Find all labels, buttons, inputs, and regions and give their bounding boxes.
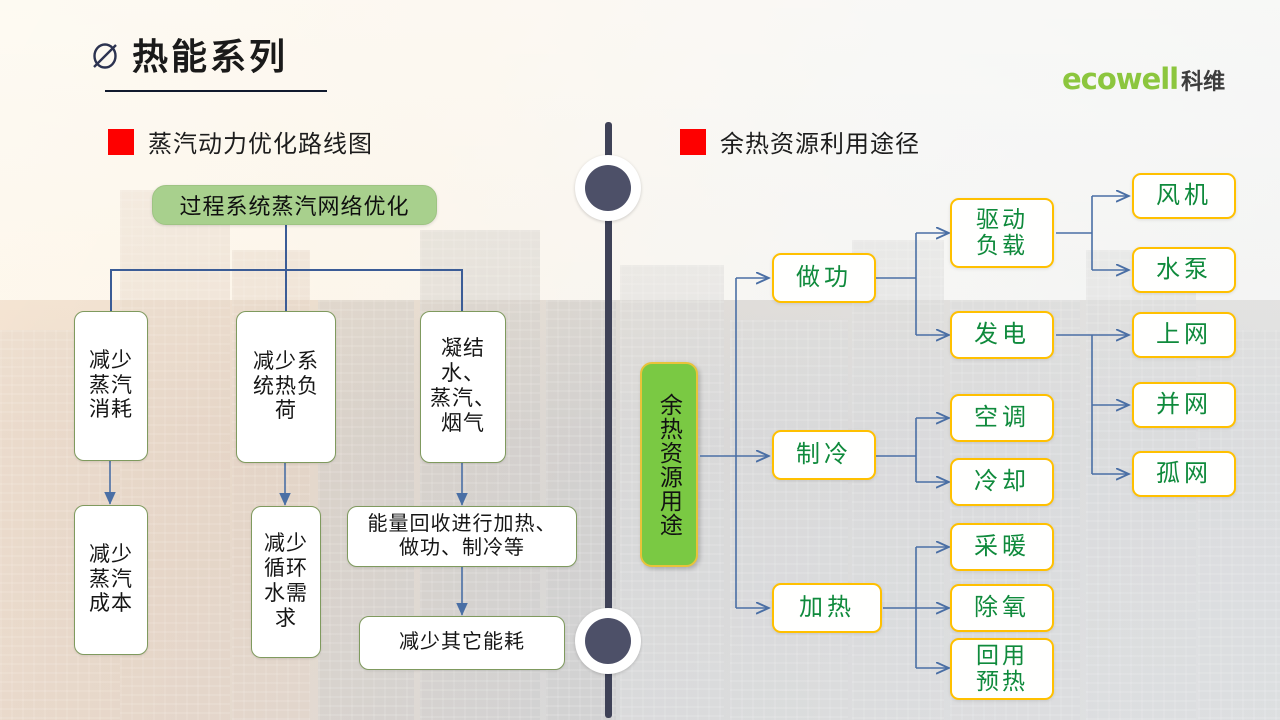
right-box-space-heating[interactable]: 采暖 — [950, 523, 1054, 571]
section-label-left: 蒸汽动力优化路线图 — [148, 124, 373, 159]
right-box-reuse-preheat[interactable]: 回用 预热 — [950, 638, 1054, 700]
left-box-reduce-steam-use[interactable]: 减少 蒸汽 消耗 — [74, 311, 148, 461]
page-title: 热能系列 — [132, 28, 288, 80]
left-root-box[interactable]: 过程系统蒸汽网络优化 — [152, 185, 437, 225]
right-box-grid-export[interactable]: 上网 — [1132, 312, 1236, 358]
spine-node-dot — [585, 618, 631, 664]
section-heading-left: 蒸汽动力优化路线图 — [108, 124, 373, 159]
left-box-reduce-steam-cost[interactable]: 减少 蒸汽 成本 — [74, 505, 148, 655]
spine-node-top — [575, 155, 641, 221]
right-box-cooling[interactable]: 制冷 — [772, 430, 876, 480]
circle-slash-icon — [90, 40, 120, 70]
right-box-air-conditioning[interactable]: 空调 — [950, 394, 1054, 442]
right-box-pump[interactable]: 水泵 — [1132, 247, 1236, 293]
left-box-reduce-other-energy[interactable]: 减少其它能耗 — [359, 616, 565, 670]
red-square-marker-icon — [108, 129, 134, 155]
title-underline — [105, 90, 327, 92]
logo-text-primary: ecowell — [1062, 62, 1178, 96]
background-wash-top — [0, 0, 1280, 720]
connector-line — [110, 269, 112, 313]
background-photo — [0, 0, 1280, 720]
left-box-energy-recovery[interactable]: 能量回收进行加热、 做功、制冷等 — [347, 506, 577, 567]
section-label-right: 余热资源利用途径 — [720, 124, 920, 159]
spine-node-dot — [585, 165, 631, 211]
connector-line — [285, 225, 287, 270]
right-box-fan[interactable]: 风机 — [1132, 173, 1236, 219]
section-heading-right: 余热资源利用途径 — [680, 124, 920, 159]
right-box-work[interactable]: 做功 — [772, 253, 876, 303]
left-box-reduce-heat-load[interactable]: 减少系 统热负 荷 — [236, 311, 336, 463]
brand-logo: ecowell 科维 — [1062, 62, 1225, 96]
right-box-deaeration[interactable]: 除氧 — [950, 584, 1054, 632]
connector-line — [461, 269, 463, 313]
spine-node-bottom — [575, 608, 641, 674]
right-box-heating[interactable]: 加热 — [772, 583, 882, 633]
left-box-condensate-steam-fluegas[interactable]: 凝结 水、 蒸汽、 烟气 — [420, 311, 506, 463]
center-waste-heat-box[interactable]: 余热资源用途 — [640, 362, 698, 567]
logo-text-secondary: 科维 — [1181, 64, 1225, 96]
right-box-drive-load[interactable]: 驱动 负载 — [950, 198, 1054, 268]
connector-line — [285, 269, 287, 313]
slide-canvas: 热能系列 ecowell 科维 蒸汽动力优化路线图 余热资源利用途径 — [0, 0, 1280, 720]
red-square-marker-icon — [680, 129, 706, 155]
left-box-reduce-cooling-water[interactable]: 减少 循环 水需 求 — [251, 506, 321, 658]
right-box-grid-tied[interactable]: 并网 — [1132, 382, 1236, 428]
right-box-islanded-grid[interactable]: 孤网 — [1132, 451, 1236, 497]
right-box-cooling-water[interactable]: 冷却 — [950, 458, 1054, 506]
right-box-power-generation[interactable]: 发电 — [950, 311, 1054, 359]
